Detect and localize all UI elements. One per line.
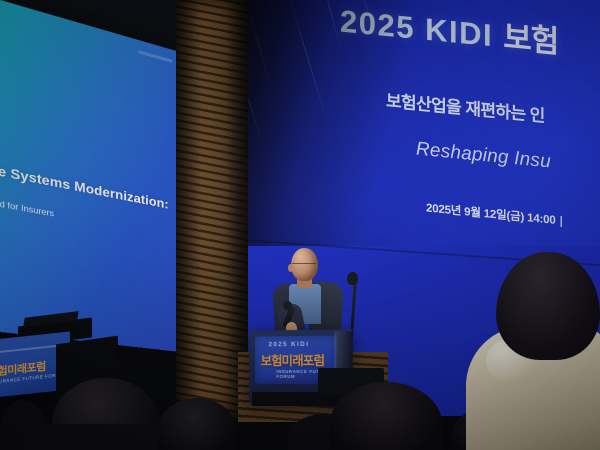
left-projection-screen: FOR FINANCIAL SERVICES ategic Core Syste… (0, 0, 180, 352)
audience-right-head (496, 252, 600, 360)
podium-base (252, 392, 348, 406)
glasses-icon (292, 263, 316, 269)
microphone-head-icon (283, 301, 292, 310)
floor-microphone-head-icon (347, 272, 358, 285)
podium-top-label: 2025 KIDI (269, 341, 310, 348)
podium-korean-label: 보험미래포럼 (261, 350, 325, 369)
conference-photo: FOR FINANCIAL SERVICES ategic Core Syste… (0, 0, 600, 450)
monitor-decor-line (0, 344, 62, 354)
